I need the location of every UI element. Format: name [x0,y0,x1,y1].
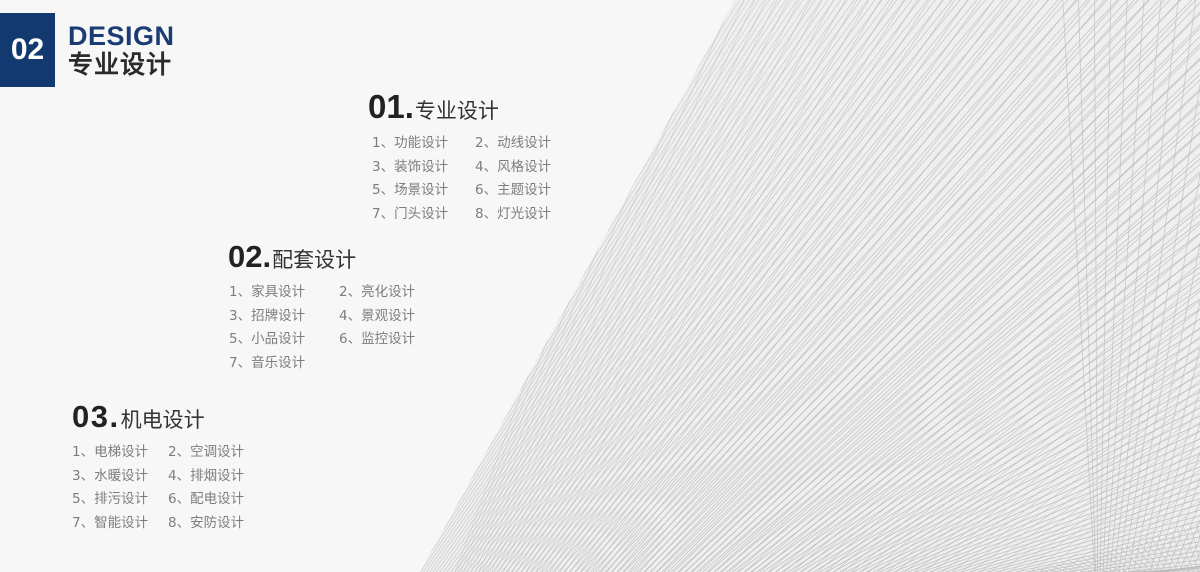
list-item: 7、门头设计 8、灯光设计 [368,203,551,227]
block-title: 配套设计 [272,250,356,271]
list-cell: 5、小品设计 [229,328,339,352]
block-item-list: 1、家具设计 2、亮化设计 3、招牌设计 4、景观设计 5、小品设计 6、监控设… [228,281,415,375]
block-index: 03. [72,401,120,432]
block-heading: 02. 配套设计 [228,241,415,272]
content-block-01: 01. 专业设计 1、功能设计 2、动线设计 3、装饰设计 4、风格设计 5、场… [368,90,551,226]
header-title-cn: 专业设计 [68,51,175,80]
list-item: 5、排污设计 6、配电设计 [72,488,244,512]
list-cell: 8、安防设计 [168,512,244,536]
list-item: 5、小品设计 6、监控设计 [228,328,415,352]
list-item: 3、装饰设计 4、风格设计 [368,156,551,180]
list-cell: 6、监控设计 [339,328,415,352]
header-title-en: DESIGN [68,22,175,50]
block-heading: 01. 专业设计 [368,90,551,123]
list-item: 5、场景设计 6、主题设计 [368,179,551,203]
list-item: 7、音乐设计 [228,352,415,376]
content-block-03: 03. 机电设计 1、电梯设计 2、空调设计 3、水暖设计 4、排烟设计 5、排… [72,401,244,535]
list-cell: 3、水暖设计 [72,465,168,489]
list-item: 1、电梯设计 2、空调设计 [72,441,244,465]
list-cell: 7、智能设计 [72,512,168,536]
list-cell: 1、功能设计 [372,132,475,156]
list-item: 7、智能设计 8、安防设计 [72,512,244,536]
block-index: 02. [228,241,271,272]
block-title: 机电设计 [121,410,205,431]
list-item: 3、招牌设计 4、景观设计 [228,305,415,329]
list-cell: 1、家具设计 [229,281,339,305]
list-cell: 2、空调设计 [168,441,244,465]
block-heading: 03. 机电设计 [72,401,244,432]
slide-header: 02 DESIGN 专业设计 [0,13,175,87]
block-title: 专业设计 [415,101,499,122]
block-item-list: 1、电梯设计 2、空调设计 3、水暖设计 4、排烟设计 5、排污设计 6、配电设… [72,441,244,535]
list-item: 1、家具设计 2、亮化设计 [228,281,415,305]
slide-canvas: 02 DESIGN 专业设计 01. 专业设计 1、功能设计 2、动线设计 3、… [0,0,1200,572]
section-number-badge: 02 [0,13,55,87]
list-cell: 4、风格设计 [475,156,551,180]
header-title-group: DESIGN 专业设计 [68,13,175,87]
list-item: 1、功能设计 2、动线设计 [368,132,551,156]
list-cell: 7、音乐设计 [229,352,339,376]
list-cell: 5、排污设计 [72,488,168,512]
list-cell: 4、景观设计 [339,305,415,329]
block-item-list: 1、功能设计 2、动线设计 3、装饰设计 4、风格设计 5、场景设计 6、主题设… [368,132,551,226]
list-cell: 5、场景设计 [372,179,475,203]
list-cell: 3、招牌设计 [229,305,339,329]
content-block-02: 02. 配套设计 1、家具设计 2、亮化设计 3、招牌设计 4、景观设计 5、小… [228,241,415,375]
section-number-label: 02 [11,35,44,65]
list-cell: 3、装饰设计 [372,156,475,180]
list-cell: 8、灯光设计 [475,203,551,227]
list-cell: 7、门头设计 [372,203,475,227]
list-cell: 6、主题设计 [475,179,551,203]
list-cell: 2、动线设计 [475,132,551,156]
list-cell: 4、排烟设计 [168,465,244,489]
list-cell: 6、配电设计 [168,488,244,512]
list-cell: 2、亮化设计 [339,281,415,305]
block-index: 01. [368,90,414,123]
list-cell: 1、电梯设计 [72,441,168,465]
list-item: 3、水暖设计 4、排烟设计 [72,465,244,489]
